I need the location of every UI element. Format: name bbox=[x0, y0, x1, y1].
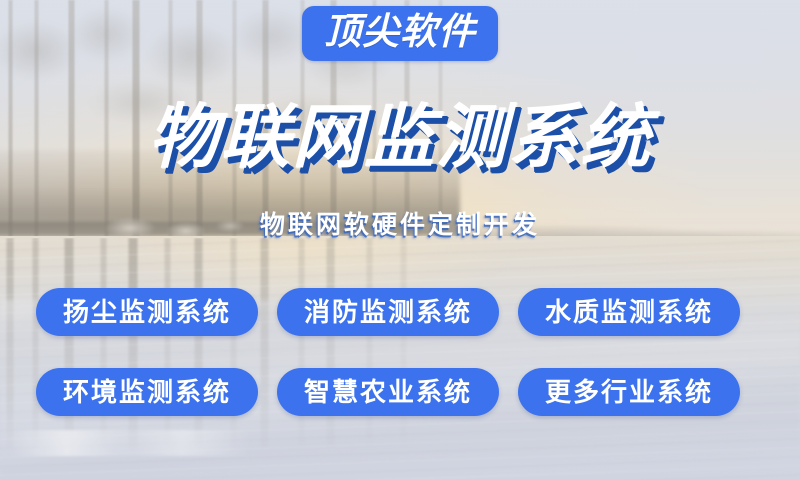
pill-label: 环境监测系统 bbox=[63, 378, 231, 406]
subtitle: 物联网软硬件定制开发 bbox=[0, 208, 800, 242]
brand-badge-label: 顶尖软件 bbox=[324, 12, 476, 52]
system-category-pill-grid: 扬尘监测系统 消防监测系统 水质监测系统 环境监测系统 智慧农业系统 更多行业系… bbox=[36, 288, 764, 416]
pill-dust-monitoring-system[interactable]: 扬尘监测系统 bbox=[36, 288, 258, 336]
pill-label: 扬尘监测系统 bbox=[63, 298, 231, 326]
pill-label: 更多行业系统 bbox=[545, 378, 713, 406]
subtitle-label: 物联网软硬件定制开发 bbox=[260, 208, 540, 242]
brand-badge: 顶尖软件 bbox=[302, 6, 498, 61]
pill-environment-monitoring-system[interactable]: 环境监测系统 bbox=[36, 368, 258, 416]
headline-label: 物联网监测系统 bbox=[148, 96, 652, 178]
pill-label: 水质监测系统 bbox=[545, 298, 713, 326]
pill-smart-agriculture-system[interactable]: 智慧农业系统 bbox=[277, 368, 499, 416]
headline: 物联网监测系统 bbox=[0, 96, 800, 178]
banner-content: 顶尖软件 物联网监测系统 物联网软硬件定制开发 扬尘监测系统 消防监测系统 水质… bbox=[0, 0, 800, 480]
pill-water-quality-monitoring-system[interactable]: 水质监测系统 bbox=[518, 288, 740, 336]
pill-label: 智慧农业系统 bbox=[304, 378, 472, 406]
pill-fire-monitoring-system[interactable]: 消防监测系统 bbox=[277, 288, 499, 336]
iot-monitoring-promo-banner: 顶尖软件 物联网监测系统 物联网软硬件定制开发 扬尘监测系统 消防监测系统 水质… bbox=[0, 0, 800, 480]
pill-label: 消防监测系统 bbox=[304, 298, 472, 326]
pill-more-industry-systems[interactable]: 更多行业系统 bbox=[518, 368, 740, 416]
